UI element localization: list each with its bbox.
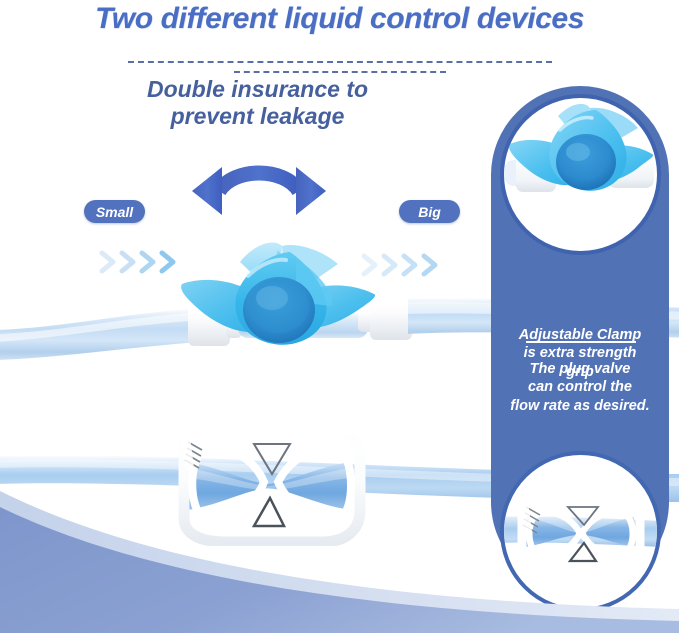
flow-chevrons-right-icon bbox=[360, 250, 446, 280]
label-small: Small bbox=[84, 200, 145, 223]
label-small-text: Small bbox=[96, 204, 133, 220]
page-subtitle: Double insurance toprevent leakage bbox=[60, 76, 455, 130]
bottom-swoosh-decoration bbox=[0, 473, 679, 633]
plug-valve-device bbox=[178, 236, 388, 362]
dashed-rule bbox=[234, 71, 446, 73]
plug-valve-closeup-icon bbox=[504, 98, 657, 251]
panel-divider bbox=[526, 341, 636, 343]
inset-valve-closeup bbox=[500, 94, 661, 255]
label-big: Big bbox=[399, 200, 460, 223]
label-big-text: Big bbox=[418, 204, 441, 220]
panel-text-plug-valve: The plug valvecan control theflow rate a… bbox=[491, 360, 669, 415]
infographic-canvas: Two different liquid control devices Dou… bbox=[0, 0, 679, 633]
page-title: Two different liquid control devices bbox=[0, 2, 679, 36]
flow-chevrons-left-icon bbox=[98, 247, 184, 277]
double-headed-curved-arrow-icon bbox=[186, 163, 332, 225]
